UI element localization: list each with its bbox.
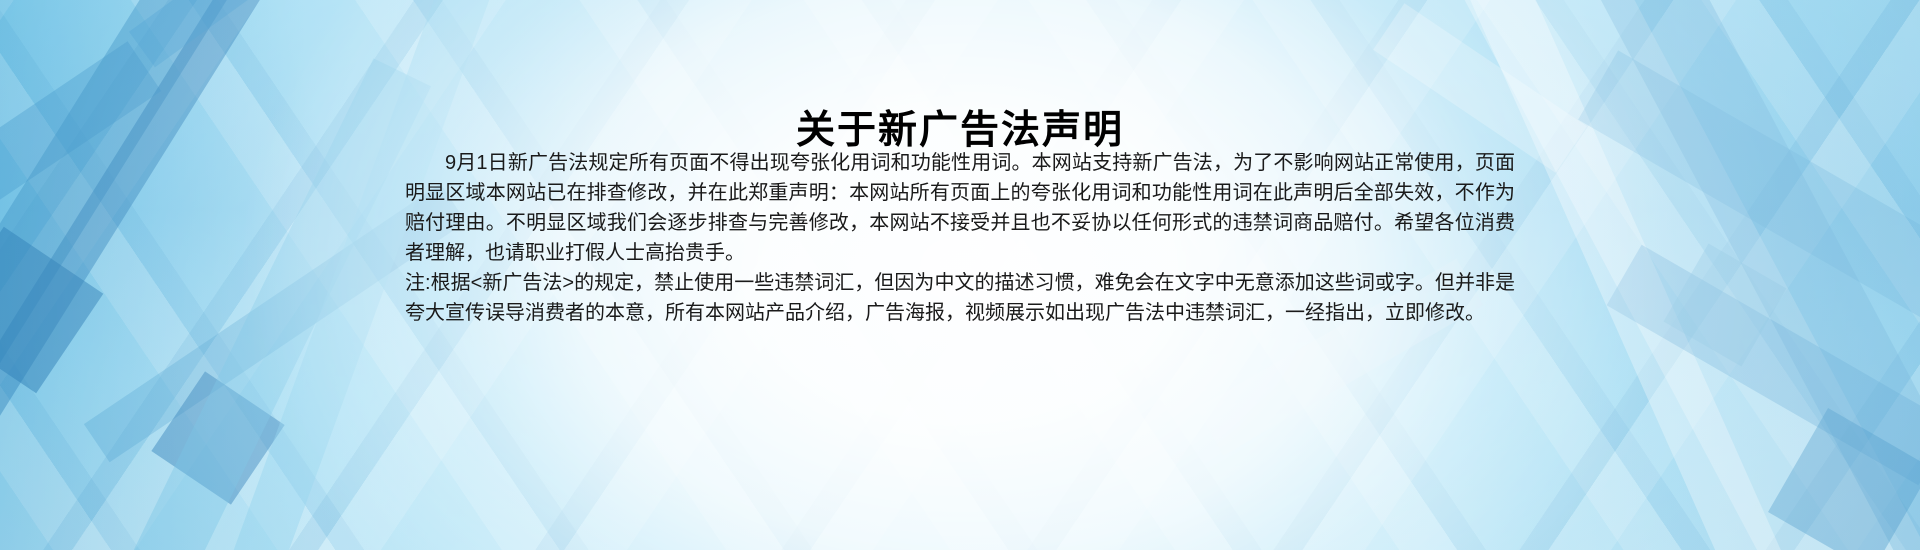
background-ribbon-accent	[1607, 245, 1920, 486]
statement-paragraph-main: 9月1日新广告法规定所有页面不得出现夸张化用词和功能性用词。本网站支持新广告法，…	[405, 148, 1515, 268]
background-ribbon-accent	[93, 58, 431, 550]
statement-paragraph-note: 注:根据<新广告法>的规定，禁止使用一些违禁词汇，但因为中文的描述习惯，难免会在…	[405, 268, 1515, 328]
background-ribbon-accent	[0, 0, 247, 550]
background-ribbon-accent	[151, 371, 284, 504]
background-ribbon-accent	[1578, 50, 1920, 329]
advertising-law-statement-banner: 关于新广告法声明 9月1日新广告法规定所有页面不得出现夸张化用词和功能性用词。本…	[0, 0, 1920, 550]
background-ribbon-accent	[0, 227, 103, 394]
background-ribbon-accent	[1664, 244, 1787, 367]
statement-body: 9月1日新广告法规定所有页面不得出现夸张化用词和功能性用词。本网站支持新广告法，…	[405, 148, 1515, 328]
background-ribbon-accent	[0, 41, 161, 259]
background-ribbon-accent	[0, 0, 301, 550]
statement-content: 关于新广告法声明 9月1日新广告法规定所有页面不得出现夸张化用词和功能性用词。本…	[405, 0, 1515, 550]
background-ribbon-accent	[1580, 0, 1920, 550]
background-ribbon-accent	[1768, 408, 1920, 550]
background-ribbon-accent	[129, 0, 341, 67]
